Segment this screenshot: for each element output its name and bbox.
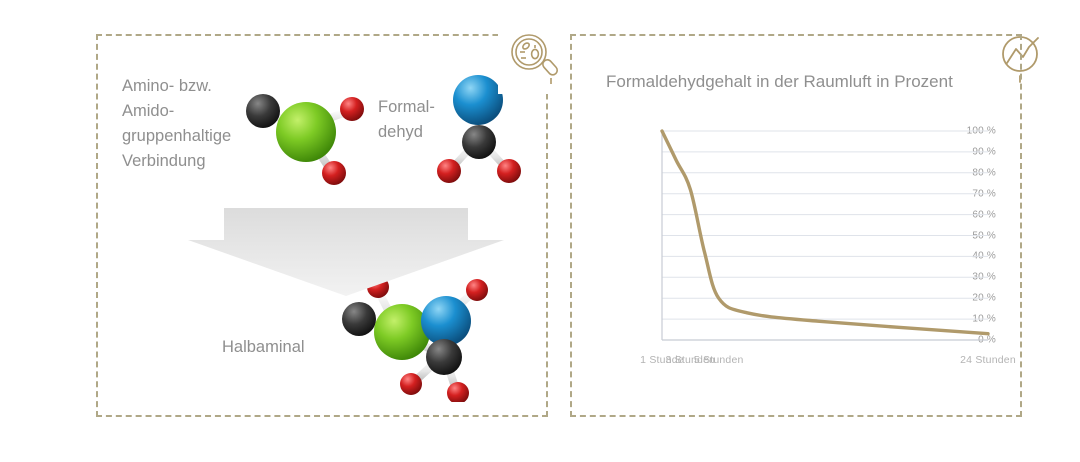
magnifier-molecules-icon (498, 22, 570, 94)
x-axis-tick-label: 24 Stunden (960, 354, 1016, 366)
chart-title: Formaldehydgehalt in der Raumluft in Pro… (606, 72, 953, 92)
chart-plot-area (656, 118, 996, 388)
x-axis-tick-label: 5 Stunden (694, 354, 744, 366)
molecule-amine-compound (236, 80, 376, 195)
label-halbaminal: Halbaminal (222, 338, 305, 357)
line-chart: 100 %90 %80 %70 %60 %50 %40 %30 %20 %10 … (596, 118, 996, 388)
down-arrow-reaction (186, 206, 506, 298)
